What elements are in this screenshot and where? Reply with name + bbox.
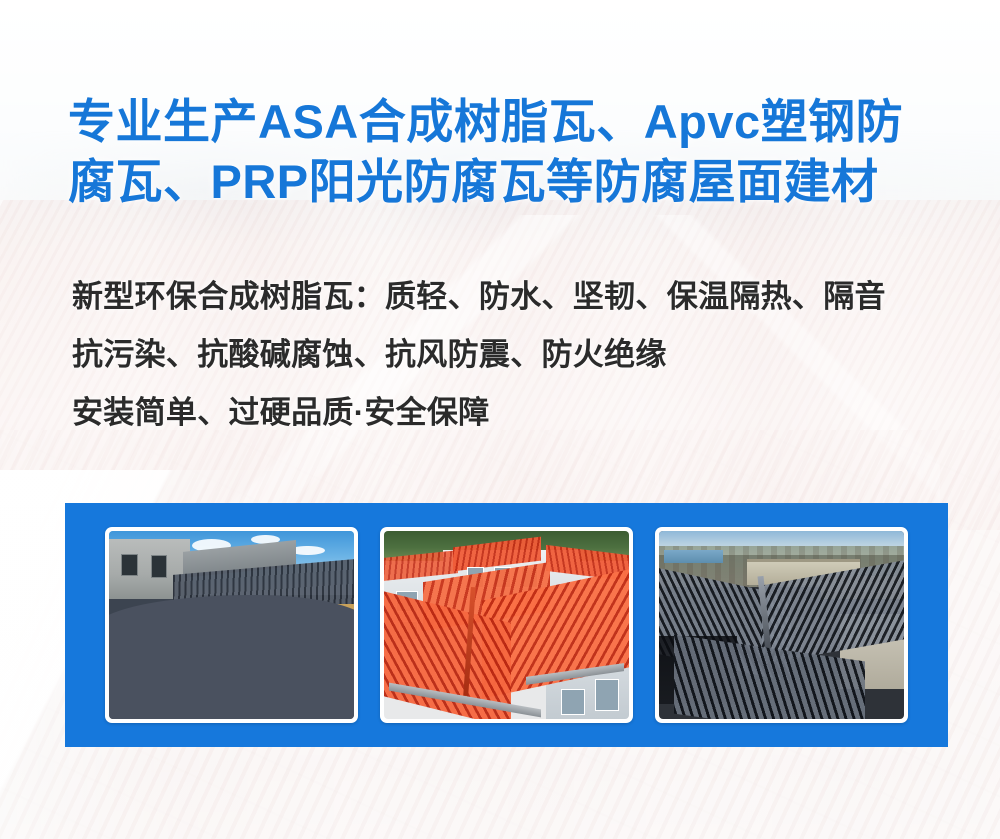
photo-frame-2[interactable] xyxy=(380,527,633,723)
headline: 专业生产ASA合成树脂瓦、Apvc塑钢防 腐瓦、PRP阳光防腐瓦等防腐屋面建材 xyxy=(68,92,948,212)
photo-red-roof xyxy=(384,531,629,719)
photo-dark-roof xyxy=(659,531,904,719)
photo-frame-3[interactable] xyxy=(655,527,908,723)
photo-grey-roof xyxy=(109,531,354,719)
subcopy-line-2: 抗污染、抗酸碱腐蚀、抗风防震、防火绝缘 xyxy=(72,326,952,384)
photo-gallery-panel xyxy=(65,503,948,747)
subcopy-line-1: 新型环保合成树脂瓦：质轻、防水、坚韧、保温隔热、隔音 xyxy=(72,268,952,326)
photo-frame-1[interactable] xyxy=(105,527,358,723)
photo3-blue-shed xyxy=(664,550,723,563)
photo1-main-roof xyxy=(109,595,354,719)
photo1-window xyxy=(151,555,168,578)
subcopy-block: 新型环保合成树脂瓦：质轻、防水、坚韧、保温隔热、隔音 抗污染、抗酸碱腐蚀、抗风防… xyxy=(72,268,952,442)
photo2-window xyxy=(595,679,619,711)
subcopy-line-3: 安装简单、过硬品质·安全保障 xyxy=(72,384,952,442)
photo1-window xyxy=(121,554,138,577)
photo2-window xyxy=(561,689,585,715)
product-banner: 专业生产ASA合成树脂瓦、Apvc塑钢防 腐瓦、PRP阳光防腐瓦等防腐屋面建材 … xyxy=(0,0,1000,839)
